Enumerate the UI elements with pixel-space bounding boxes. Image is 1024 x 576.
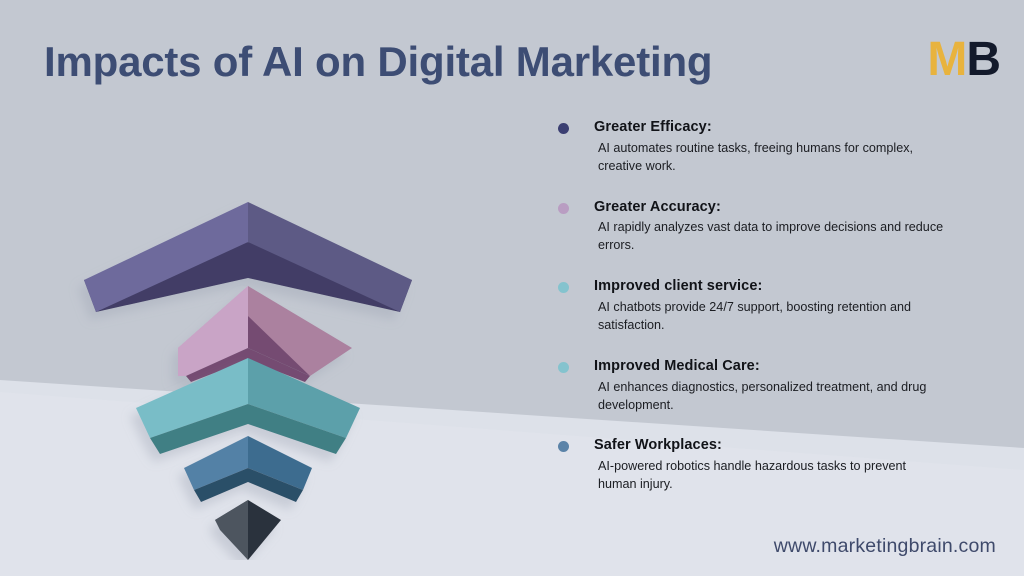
list-item[interactable]: Improved client service: AI chatbots pro… (556, 277, 976, 335)
list-item-heading: Greater Accuracy: (594, 198, 976, 217)
logo-letter-b: B (966, 33, 1000, 86)
footer-website-url[interactable]: www.marketingbrain.com (774, 535, 996, 558)
list-item-heading: Greater Efficacy: (594, 118, 976, 137)
bullet-dot-icon (558, 362, 569, 373)
list-item-description: AI-powered robotics handle hazardous tas… (594, 458, 944, 494)
funnel-layer-5-left-face (215, 500, 248, 560)
list-item[interactable]: Improved Medical Care: AI enhances diagn… (556, 357, 976, 415)
slide-canvas: Impacts of AI on Digital Marketing MB (0, 0, 1024, 576)
impact-list: Greater Efficacy: AI automates routine t… (556, 118, 976, 494)
funnel-layer-5 (215, 500, 281, 560)
funnel-layer-4 (184, 436, 312, 502)
page-title: Impacts of AI on Digital Marketing (44, 38, 874, 85)
bullet-dot-icon (558, 203, 569, 214)
list-item-description: AI automates routine tasks, freeing huma… (594, 140, 944, 176)
list-item[interactable]: Safer Workplaces: AI-powered robotics ha… (556, 436, 976, 494)
list-item[interactable]: Greater Efficacy: AI automates routine t… (556, 118, 976, 176)
list-item-heading: Improved client service: (594, 277, 976, 296)
list-item-heading: Improved Medical Care: (594, 357, 976, 376)
bullet-dot-icon (558, 123, 569, 134)
bullet-dot-icon (558, 282, 569, 293)
list-item-heading: Safer Workplaces: (594, 436, 976, 455)
bullet-dot-icon (558, 441, 569, 452)
funnel-layer-5-right (248, 500, 281, 560)
logo-letter-m: M (927, 33, 966, 86)
brand-logo: MB (927, 36, 1000, 84)
list-item[interactable]: Greater Accuracy: AI rapidly analyzes va… (556, 198, 976, 256)
list-item-description: AI chatbots provide 24/7 support, boosti… (594, 299, 944, 335)
list-item-description: AI enhances diagnostics, personalized tr… (594, 379, 944, 415)
funnel-graphic (60, 190, 460, 560)
list-item-description: AI rapidly analyzes vast data to improve… (594, 219, 944, 255)
